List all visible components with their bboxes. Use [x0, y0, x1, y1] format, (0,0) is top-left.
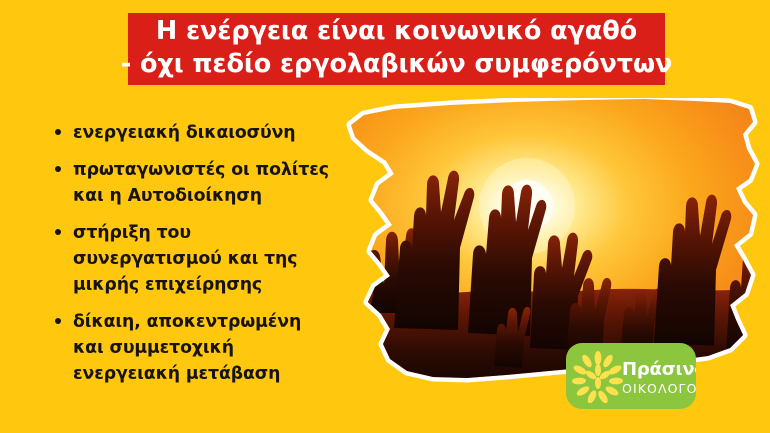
logo-title: Πράσινοι: [622, 360, 696, 379]
list-item: δίκαιη, αποκεντρωμένη και συμμετοχική εν…: [52, 309, 324, 387]
title-line-2: - όχι πεδίο εργολαβικών συμφερόντων: [121, 48, 673, 81]
title-banner: Η ενέργεια είναι κοινωνικό αγαθό - όχι π…: [128, 13, 665, 85]
logo-subtitle: ΟΙΚΟΛΟΓΟΙ!: [622, 381, 696, 396]
logo-text-block: Πράσινοι ΟΙΚΟΛΟΓΟΙ!: [622, 360, 696, 396]
title-line-1: Η ενέργεια είναι κοινωνικό αγαθό: [156, 15, 637, 48]
bullet-list: ενεργειακή δικαιοσύνη πρωταγωνιστές οι π…: [52, 120, 324, 398]
crowd-raised-hands-sunset-photo: [334, 98, 764, 398]
bullet-line: συνεργατισμού και της: [73, 246, 324, 272]
bullet-dot-icon: [55, 229, 61, 235]
photo-torn-edge: [334, 98, 764, 398]
prasinoi-oikologoi-logo[interactable]: Πράσινοι ΟΙΚΟΛΟΓΟΙ!: [566, 343, 696, 409]
bullet-line: ενεργειακή δικαιοσύνη: [73, 120, 324, 146]
bullet-line: πρωταγωνιστές οι πολίτες: [73, 157, 324, 183]
list-item: πρωταγωνιστές οι πολίτες και η Αυτοδιοίκ…: [52, 157, 324, 209]
bullet-dot-icon: [55, 166, 61, 172]
list-item: στήριξη του συνεργατισμού και της μικρής…: [52, 220, 324, 298]
bullet-line: και συμμετοχική: [73, 335, 324, 361]
photo-content: [334, 98, 764, 398]
sunflower-icon: [572, 351, 624, 403]
bullet-line: στήριξη του: [73, 220, 324, 246]
bullet-dot-icon: [55, 129, 61, 135]
bullet-line: ενεργειακή μετάβαση: [73, 361, 324, 387]
bullet-line: δίκαιη, αποκεντρωμένη: [73, 309, 324, 335]
bullet-line: μικρής επιχείρησης: [73, 272, 324, 298]
poster-canvas: Η ενέργεια είναι κοινωνικό αγαθό - όχι π…: [0, 0, 770, 433]
bullet-dot-icon: [55, 318, 61, 324]
list-item: ενεργειακή δικαιοσύνη: [52, 120, 324, 146]
bullet-line: και η Αυτοδιοίκηση: [73, 183, 324, 209]
